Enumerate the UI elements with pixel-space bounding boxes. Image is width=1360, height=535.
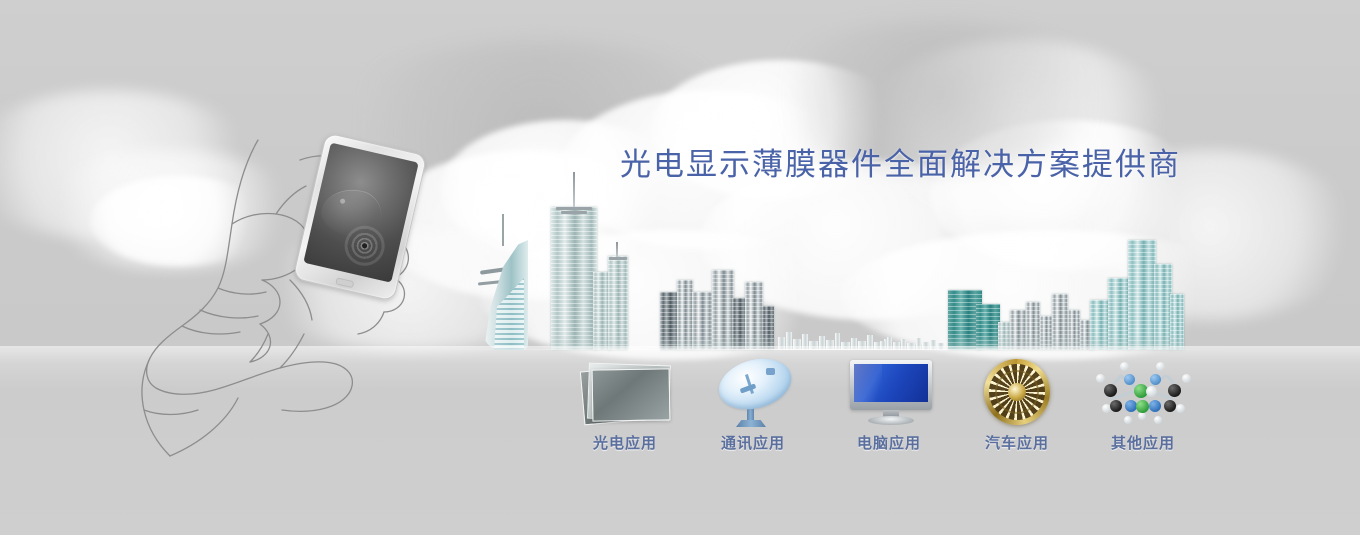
- application-label: 通讯应用: [688, 432, 818, 453]
- application-item-computer[interactable]: 电脑应用: [824, 356, 954, 466]
- application-label: 光电应用: [560, 432, 690, 453]
- page-title: 光电显示薄膜器件全面解决方案提供商: [620, 139, 1181, 184]
- molecule-icon: [1078, 356, 1208, 430]
- tower-c: [608, 256, 628, 350]
- tower-cyan-c: [1128, 240, 1156, 350]
- tower-j: [762, 306, 774, 350]
- hero-banner: 光电显示薄膜器件全面解决方案提供商 光电应用 通讯应用: [0, 0, 1360, 535]
- application-label: 电脑应用: [824, 432, 954, 453]
- application-item-optoelectronic[interactable]: 光电应用: [560, 356, 690, 466]
- tower-cyan-a: [1090, 300, 1110, 350]
- tower-e: [677, 280, 693, 350]
- tower-teal-2: [976, 304, 1000, 350]
- hand-holding-phone-illustration: [140, 120, 470, 480]
- car-wheel-icon: [952, 356, 1082, 430]
- application-item-other[interactable]: 其他应用: [1078, 356, 1208, 466]
- glass-panels-icon: [560, 356, 690, 430]
- application-label: 汽车应用: [952, 432, 1082, 453]
- horizon-line: [430, 349, 1230, 350]
- tower-cyan-b: [1108, 278, 1130, 350]
- tower-i: [745, 282, 763, 350]
- application-item-automotive[interactable]: 汽车应用: [952, 356, 1082, 466]
- tower-m: [1026, 302, 1040, 350]
- sail-tower: [478, 238, 530, 350]
- tower-h: [732, 298, 746, 350]
- satellite-dish-icon: [688, 356, 818, 430]
- tower-f: [692, 292, 712, 350]
- application-label: 其他应用: [1078, 432, 1208, 453]
- tower-cyan-e: [1170, 294, 1184, 350]
- tower-main: [551, 207, 597, 350]
- tower-l: [1010, 310, 1026, 350]
- application-item-communication[interactable]: 通讯应用: [688, 356, 818, 466]
- computer-monitor-icon: [824, 356, 954, 430]
- tower-d: [660, 292, 678, 350]
- tower-o: [1052, 294, 1068, 350]
- application-icon-row: 光电应用 通讯应用 电脑应用: [560, 356, 1210, 466]
- tower-g: [712, 270, 734, 350]
- tower-p: [1068, 310, 1080, 350]
- tower-n: [1040, 316, 1052, 350]
